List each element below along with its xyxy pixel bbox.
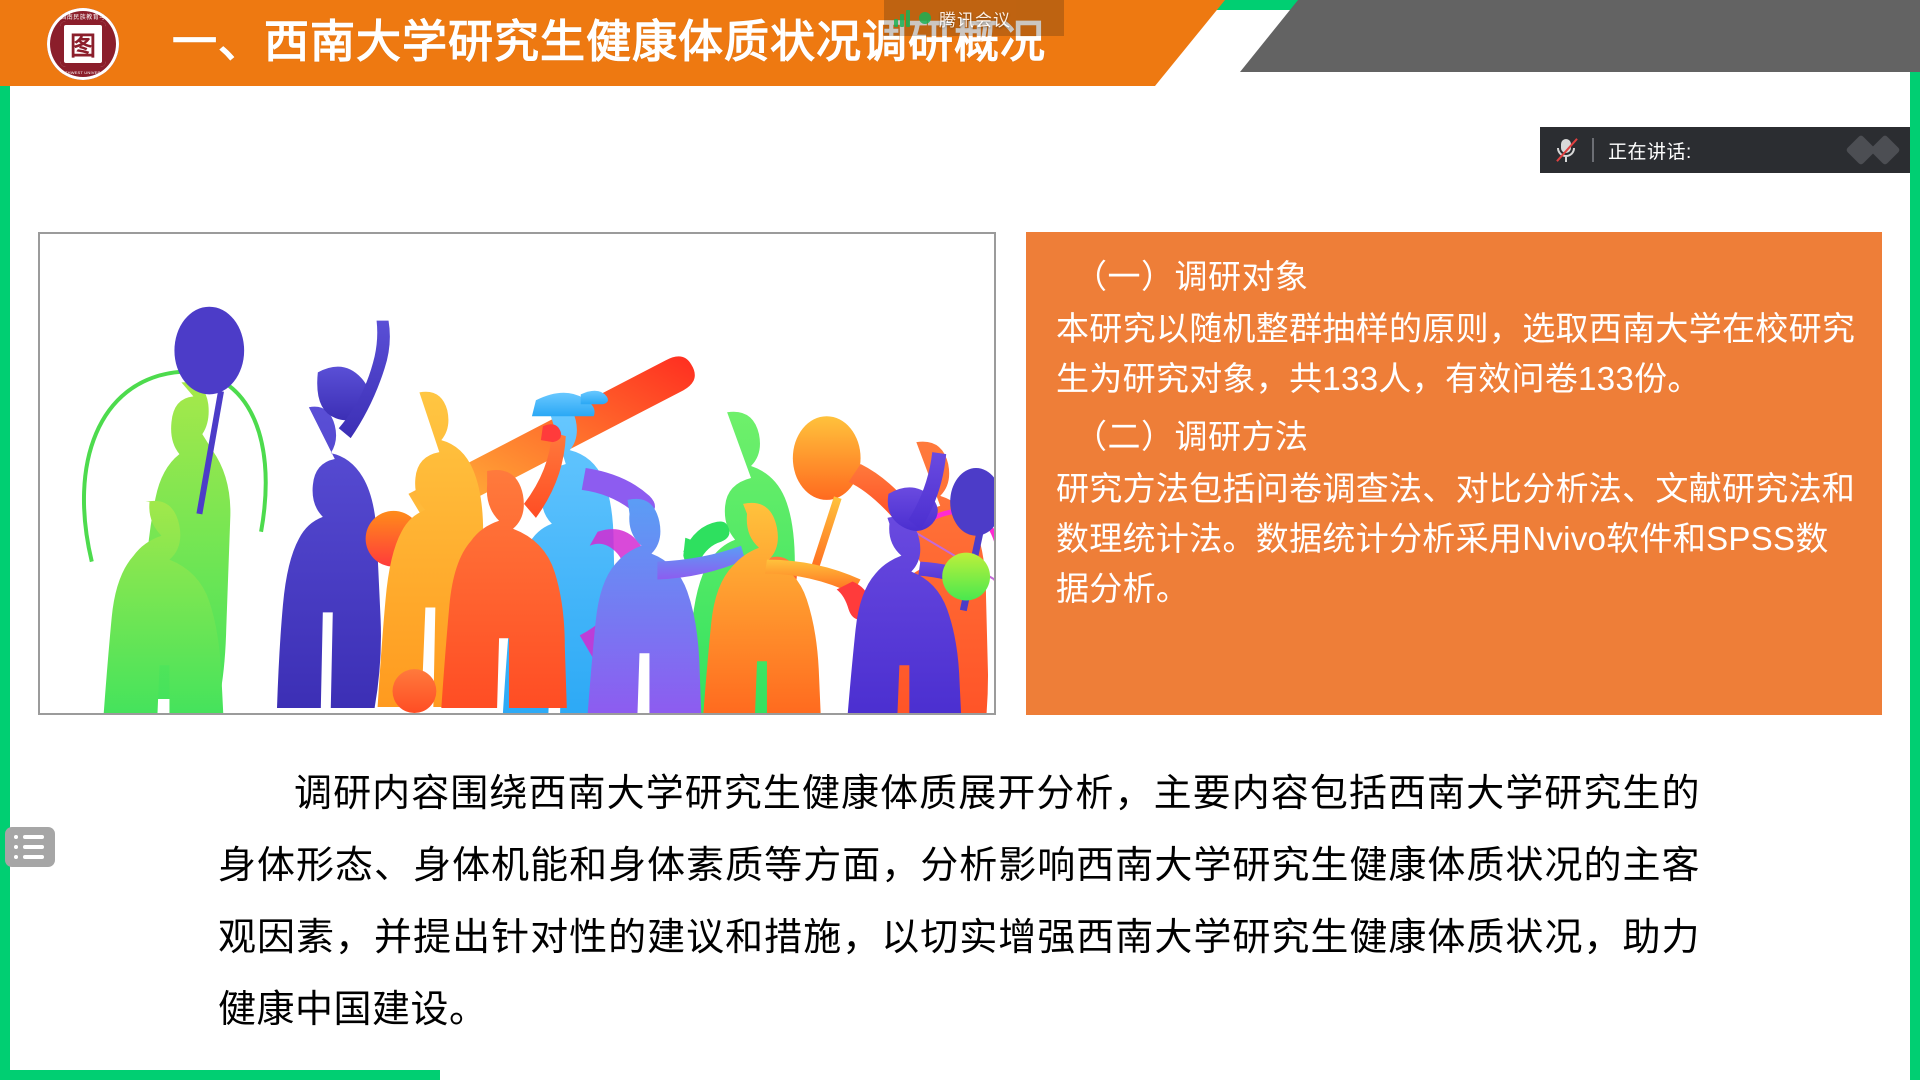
section-two-body: 研究方法包括问卷调查法、对比分析法、文献研究法和数理统计法。数据统计分析采用Nv… [1056,464,1856,614]
sports-silhouettes-svg [40,234,994,713]
frame-accent-left [0,0,10,1080]
tencent-meeting-watermark: 腾讯会议 [884,0,1064,36]
speaker-status-bar[interactable]: 正在讲话: [1540,127,1910,173]
slide-header: 西南大学西南民族教育与心理研究 图 SOUTHWEST UNIVERSITY 一… [0,0,1920,86]
frame-accent-bottom [0,1070,440,1080]
sports-silhouettes-image [38,232,996,715]
seal-arc-bottom-text: SOUTHWEST UNIVERSITY [56,70,111,75]
frame-accent-right [1910,0,1920,1080]
speaker-bar-divider [1592,138,1594,162]
speaker-label: 正在讲话: [1608,137,1692,164]
signal-bars-icon [894,10,910,27]
section-two-title: （二）调研方法 [1074,410,1856,464]
bullet-list-icon[interactable] [5,827,55,867]
green-dot-icon [919,12,931,24]
university-seal-logo: 西南大学西南民族教育与心理研究 图 SOUTHWEST UNIVERSITY [47,8,119,80]
watermark-label: 腾讯会议 [939,6,1011,31]
slide-body-paragraph: 调研内容围绕西南大学研究生健康体质展开分析，主要内容包括西南大学研究生的身体形态… [218,758,1700,1046]
survey-info-card: （一）调研对象 本研究以随机整群抽样的原则，选取西南大学在校研究生为研究对象，共… [1026,232,1882,715]
header-gray-banner [1240,0,1920,72]
microphone-muted-icon[interactable] [1554,137,1578,163]
slide-canvas: 西南大学西南民族教育与心理研究 图 SOUTHWEST UNIVERSITY 一… [0,0,1920,1080]
section-one-body: 本研究以随机整群抽样的原则，选取西南大学在校研究生为研究对象，共133人，有效问… [1056,304,1856,404]
speaker-avatar-placeholder [1850,139,1896,161]
section-one-title: （一）调研对象 [1074,250,1856,304]
